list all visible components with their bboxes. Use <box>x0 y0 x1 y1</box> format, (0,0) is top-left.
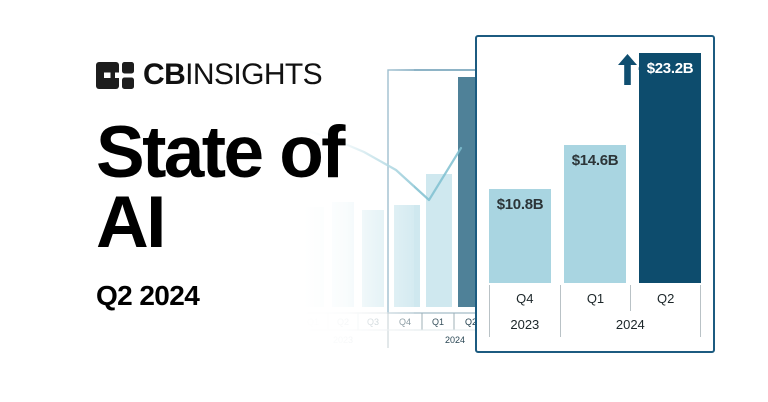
axis-year-2024: 2024 <box>560 311 701 337</box>
ghost-year-2023: 2023 <box>333 335 353 345</box>
bar-column-q2-2024: $23.2B <box>639 53 701 283</box>
callout-bars: $10.8B $14.6B $23.2B <box>489 53 701 283</box>
cb-insights-logo[interactable]: CBINSIGHTS <box>96 58 386 92</box>
ghost-tick-q1-2023: Q1 <box>307 317 319 327</box>
cb-insights-logo-mark <box>96 62 134 89</box>
callout-axis-table: Q4 Q1 Q2 2023 2024 <box>489 285 701 337</box>
axis-row-years: 2023 2024 <box>489 311 701 337</box>
bar-value-q1-2024: $14.6B <box>564 152 626 169</box>
bar-column-q4-2023: $10.8B <box>489 53 551 283</box>
bar-value-q4-2023: $10.8B <box>489 196 551 213</box>
brand-block: CBINSIGHTS State of AI Q2 2024 <box>96 58 386 312</box>
axis-year-2023: 2023 <box>489 311 560 337</box>
page-subtitle: Q2 2024 <box>96 280 386 312</box>
logo-text-insights: INSIGHTS <box>185 58 322 91</box>
cb-insights-wordmark: CBINSIGHTS <box>143 60 322 90</box>
axis-row-quarters: Q4 Q1 Q2 <box>489 285 701 311</box>
ghost-tick-q4-2023: Q4 <box>399 317 411 327</box>
ghost-tick-q1-2024: Q1 <box>432 317 444 327</box>
bar-value-q2-2024: $23.2B <box>639 60 701 77</box>
callout-chart-panel: +59% QoQ $10.8B $14.6B $23.2B Q4 Q1 Q2 <box>475 35 715 353</box>
ghost-tick-q3-2023: Q3 <box>367 317 379 327</box>
bar-q4-2023[interactable]: $10.8B <box>489 189 551 283</box>
axis-quarter-q2: Q2 <box>630 285 701 311</box>
bar-q2-2024[interactable]: $23.2B <box>639 53 701 283</box>
axis-quarter-q1: Q1 <box>560 285 631 311</box>
page-title: State of AI <box>96 118 386 258</box>
bar-q1-2024[interactable]: $14.6B <box>564 145 626 283</box>
ghost-year-2024: 2024 <box>445 335 465 345</box>
logo-text-cb: CB <box>143 58 185 91</box>
axis-quarter-q4: Q4 <box>489 285 560 311</box>
ghost-tick-q2-2023: Q2 <box>337 317 349 327</box>
bar-column-q1-2024: $14.6B <box>564 53 626 283</box>
